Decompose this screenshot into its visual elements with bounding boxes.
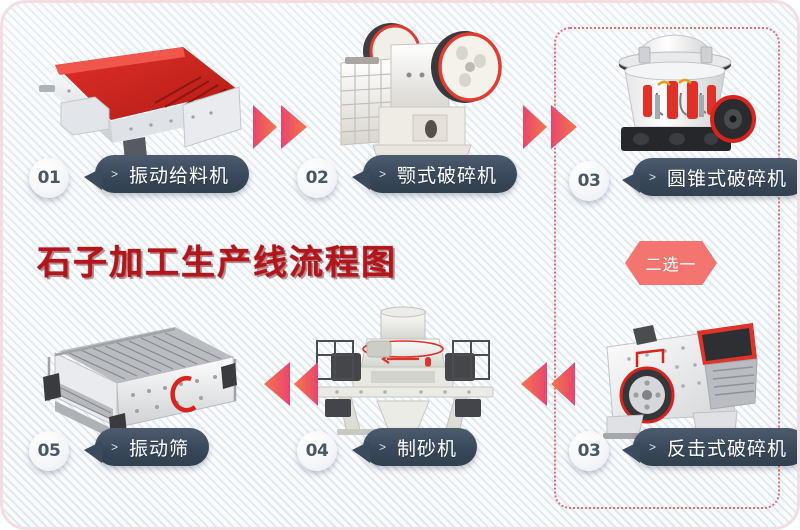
step-number-03b-text: 03 <box>578 441 601 461</box>
step-label-02[interactable]: > 颚式破碎机 <box>363 155 517 193</box>
label-tail-03b <box>622 441 640 463</box>
machine-image-impact-crusher <box>585 303 771 443</box>
step-label-01-text: 振动给料机 <box>125 161 229 188</box>
step-number-01: 01 <box>29 158 69 198</box>
chevron-right-icon-03a: > <box>649 171 656 183</box>
label-tail-01 <box>84 168 102 190</box>
chevron-right-icon-01: > <box>111 168 118 180</box>
step-label-02-text: 颚式破碎机 <box>393 161 497 188</box>
label-tail-04 <box>352 441 370 463</box>
step-label-05-text: 振动筛 <box>125 434 189 461</box>
chevron-right-icon-03b: > <box>649 441 656 453</box>
step-label-01[interactable]: > 振动给料机 <box>95 155 249 193</box>
label-tail-03a <box>622 171 640 193</box>
label-tail-02 <box>352 168 370 190</box>
chevron-right-icon-04: > <box>379 441 386 453</box>
page-title: 石子加工生产线流程图 <box>37 235 397 284</box>
step-label-03a-text: 圆锥式破碎机 <box>663 164 787 191</box>
step-number-02-text: 02 <box>306 168 329 188</box>
step-label-03b-text: 反击式破碎机 <box>663 434 787 461</box>
step-number-03a-text: 03 <box>578 171 601 191</box>
step-number-01-text: 01 <box>38 168 61 188</box>
machine-image-sand-making-machine <box>303 305 503 443</box>
step-number-04: 04 <box>297 431 337 471</box>
step-number-03b: 03 <box>569 431 609 471</box>
label-tail-05 <box>84 441 102 463</box>
step-number-03a: 03 <box>569 161 609 201</box>
arrow-jaw-to-crusher-option <box>521 101 583 153</box>
machine-image-vibrating-screen <box>25 305 243 445</box>
choose-one-badge: 二选一 <box>625 241 717 285</box>
arrow-impact-to-sand-maker <box>515 358 577 410</box>
step-label-03a[interactable]: > 圆锥式破碎机 <box>633 158 800 196</box>
step-number-04-text: 04 <box>306 441 329 461</box>
chevron-right-icon-05: > <box>111 441 118 453</box>
chevron-right-icon-02: > <box>379 168 386 180</box>
machine-image-cone-crusher <box>591 23 761 165</box>
flowchart-canvas: 01 > 振动给料机 <box>0 0 800 530</box>
machine-image-jaw-crusher <box>325 15 511 163</box>
step-label-05[interactable]: > 振动筛 <box>95 428 209 466</box>
arrow-feeder-to-jaw <box>251 101 313 153</box>
arrow-sand-maker-to-screen <box>258 358 320 410</box>
machine-image-vibrating-feeder <box>33 25 248 165</box>
step-number-05-text: 05 <box>38 441 61 461</box>
step-label-04-text: 制砂机 <box>393 434 457 461</box>
step-label-03b[interactable]: > 反击式破碎机 <box>633 428 800 466</box>
step-number-02: 02 <box>297 158 337 198</box>
step-label-04[interactable]: > 制砂机 <box>363 428 477 466</box>
choose-one-badge-text: 二选一 <box>645 251 696 275</box>
step-number-05: 05 <box>29 431 69 471</box>
